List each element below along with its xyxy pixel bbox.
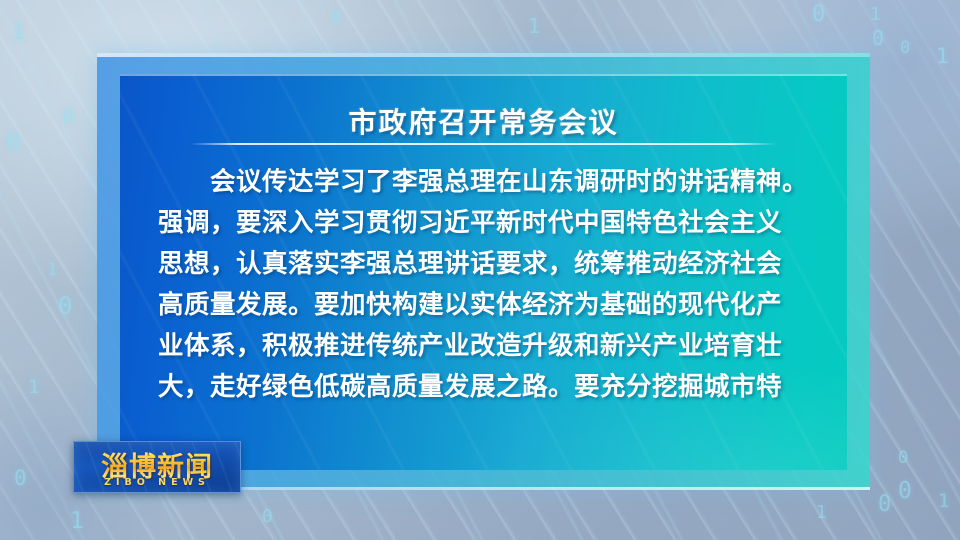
- background-binary-digit: 1: [938, 490, 949, 512]
- title-divider: [190, 143, 777, 145]
- news-body-line: 会议传达学习了李强总理在山东调研时的讲话精神。: [158, 162, 815, 203]
- background-binary-digit: 1: [936, 44, 949, 68]
- news-body-line: 大，走好绿色低碳高质量发展之路。要充分挖掘城市特: [158, 367, 815, 408]
- news-body-line: 强调，要深入学习贯彻习近平新时代中国特色社会主义: [158, 203, 815, 244]
- content-panel: 市政府召开常务会议 会议传达学习了李强总理在山东调研时的讲话精神。 强调，要深入…: [120, 74, 847, 470]
- news-body: 会议传达学习了李强总理在山东调研时的讲话精神。 强调，要深入学习贯彻习近平新时代…: [158, 162, 815, 408]
- background-binary-digit: 1: [28, 376, 39, 398]
- background-binary-digit: 0: [898, 448, 908, 468]
- channel-logo: 淄博新闻 ZIBO NEWS: [73, 441, 241, 493]
- background-binary-digit: 1: [870, 4, 881, 25]
- background-binary-digit: 0: [812, 2, 825, 27]
- channel-logo-name-en: ZIBO NEWS: [74, 477, 240, 488]
- background-binary-digit: 0: [872, 26, 884, 50]
- news-body-line: 高质量发展。要加快构建以实体经济为基础的现代化产: [158, 285, 815, 326]
- background-binary-digit: 0: [878, 492, 891, 517]
- background-binary-digit: 0: [262, 506, 273, 527]
- background-binary-digit: 1: [816, 502, 827, 523]
- background-binary-digit: 0: [14, 466, 27, 490]
- page-title: 市政府召开常务会议: [120, 101, 847, 141]
- news-body-line: 业体系，积极推进传统产业改造升级和新兴产业培育壮: [158, 326, 815, 367]
- background-binary-digit: 1: [528, 14, 540, 38]
- panel-top-highlight: [120, 74, 847, 76]
- background-binary-digit: 0: [330, 8, 341, 29]
- background-binary-digit: 1: [47, 260, 57, 280]
- background-binary-digit: 0: [6, 128, 22, 158]
- background-binary-digit: 0: [62, 104, 74, 128]
- background-binary-digit: 0: [900, 38, 910, 58]
- background-binary-digit: 0: [898, 478, 912, 504]
- background-binary-digit: 1: [12, 20, 25, 45]
- news-body-line: 思想，认真落实李强总理讲话要求，统筹推动经济社会: [158, 244, 815, 285]
- background-binary-digit: 1: [70, 508, 84, 534]
- background-binary-digit: 0: [58, 292, 72, 320]
